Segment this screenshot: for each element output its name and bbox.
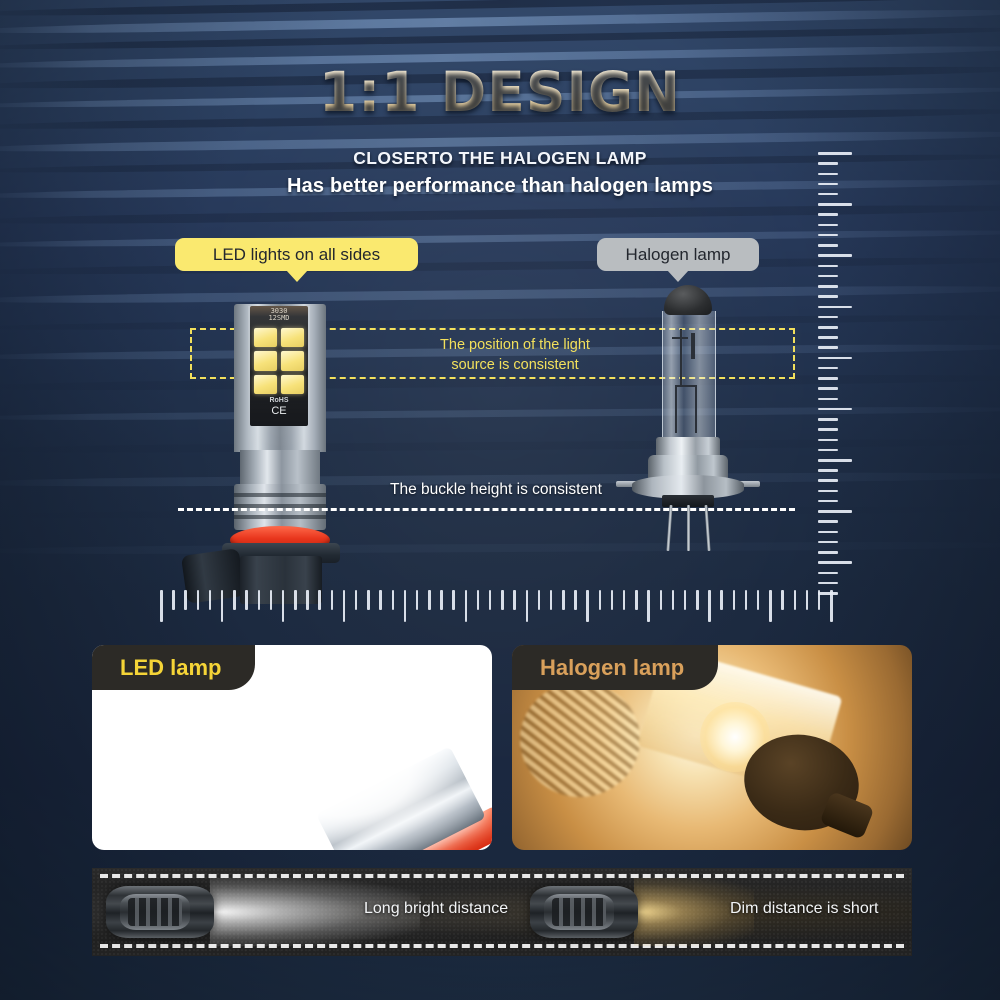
ruler-tick-minor: [818, 173, 838, 176]
ruler-tick-minor: [245, 590, 248, 610]
ruler-tick-minor: [331, 590, 334, 610]
ruler-tick-minor: [696, 590, 699, 610]
callout-led-lights: LED lights on all sides: [175, 238, 418, 271]
light-source-note: The position of the light source is cons…: [400, 335, 630, 375]
ruler-tick-minor: [818, 531, 838, 534]
ruler-tick-minor: [720, 590, 723, 610]
ruler-tick-major: [818, 306, 852, 309]
ruler-tick-major: [282, 590, 285, 622]
ruler-tick-minor: [818, 336, 838, 339]
ruler-tick-minor: [818, 428, 838, 431]
led-chip: [281, 328, 304, 347]
ruler-tick-minor: [184, 590, 187, 610]
halogen-pin: [666, 505, 672, 551]
ruler-tick-major: [708, 590, 711, 622]
ruler-tick-minor: [818, 224, 838, 227]
ruler-tick-minor: [452, 590, 455, 610]
led-bulb-illustration: 3030 12SMD RoHS CE: [188, 300, 368, 582]
ruler-tick-minor: [562, 590, 565, 610]
led-pcb-code-line-2: 12SMD: [254, 315, 304, 322]
buckle-height-note: The buckle height is consistent: [390, 481, 602, 499]
led-pcb-code: 3030 12SMD: [254, 308, 304, 322]
led-bulb-neck: [240, 450, 320, 484]
ruler-tick-minor: [684, 590, 687, 610]
ruler-tick-major: [818, 254, 852, 257]
ruler-tick-minor: [818, 162, 838, 165]
heatsink-fin: [234, 515, 326, 519]
ruler-tick-minor: [818, 193, 838, 196]
ruler-tick-major: [818, 357, 852, 360]
halogen-filament-bridge: [675, 385, 697, 387]
panel-label-halogen: Halogen lamp: [512, 645, 718, 690]
led-chip: [254, 351, 277, 370]
ruler-tick-minor: [623, 590, 626, 610]
ruler-tick-minor: [416, 590, 419, 610]
ruler-tick-minor: [818, 244, 838, 247]
ruler-tick-minor: [233, 590, 236, 610]
ruler-tick-minor: [489, 590, 492, 610]
ruler-tick-minor: [818, 572, 838, 575]
ruler-tick-minor: [477, 590, 480, 610]
ruler-tick-minor: [781, 590, 784, 610]
ruler-tick-minor: [379, 590, 382, 610]
ruler-tick-minor: [818, 285, 838, 288]
panel-halogen-photo: Halogen lamp: [512, 645, 912, 850]
car-interior: [128, 898, 182, 926]
callout-halogen-lamp: Halogen lamp: [597, 238, 759, 271]
beam-distance-comparison: Long bright distance Dim distance is sho…: [92, 868, 912, 956]
caption-dim-distance-short: Dim distance is short: [730, 900, 879, 918]
ruler-tick-major: [818, 510, 852, 513]
ruler-tick-minor: [538, 590, 541, 610]
ruler-tick-major: [586, 590, 589, 622]
halogen-filament-coil: [691, 333, 695, 359]
halogen-bulb-illustration: [628, 285, 748, 575]
ruler-tick-minor: [818, 326, 838, 329]
ruler-tick-minor: [818, 469, 838, 472]
ruler-tick-major: [818, 408, 852, 411]
ruler-tick-minor: [818, 346, 838, 349]
ruler-tick-major: [160, 590, 163, 622]
led-chip-array: [254, 328, 304, 394]
lamp-comparison-panels: LED lamp Halogen lamp: [92, 645, 912, 850]
ruler-tick-minor: [172, 590, 175, 610]
ruler-tick-minor: [757, 590, 760, 610]
panel-label-led: LED lamp: [92, 645, 255, 690]
horizontal-ruler: [160, 590, 832, 624]
ruler-tick-minor: [818, 479, 838, 482]
ce-mark: CE: [254, 405, 304, 417]
light-source-note-line-2: source is consistent: [400, 355, 630, 375]
ruler-tick-minor: [818, 551, 838, 554]
ruler-tick-minor: [270, 590, 273, 610]
halogen-glass-envelope: [662, 311, 716, 441]
ruler-tick-minor: [574, 590, 577, 610]
halogen-black-tip: [664, 285, 712, 315]
ruler-tick-minor: [745, 590, 748, 610]
ruler-tick-minor: [599, 590, 602, 610]
ruler-tick-minor: [818, 439, 838, 442]
led-chip: [281, 351, 304, 370]
ruler-tick-major: [343, 590, 346, 622]
halogen-filament-lead: [675, 385, 677, 433]
ruler-tick-minor: [806, 590, 809, 610]
ruler-tick-major: [830, 590, 833, 622]
car-interior: [552, 898, 606, 926]
heatsink-fin: [234, 493, 326, 497]
led-chip: [254, 328, 277, 347]
ruler-tick-minor: [818, 418, 838, 421]
caption-long-bright-distance: Long bright distance: [364, 900, 508, 918]
ruler-tick-minor: [818, 398, 838, 401]
ruler-tick-major: [818, 459, 852, 462]
panel-led-photo: LED lamp: [92, 645, 492, 850]
ruler-tick-minor: [818, 590, 821, 610]
ruler-tick-minor: [355, 590, 358, 610]
buckle-height-dashed-line: [178, 508, 795, 511]
ruler-tick-minor: [294, 590, 297, 610]
ruler-tick-major: [818, 561, 852, 564]
ruler-tick-minor: [209, 590, 212, 610]
ruler-tick-minor: [392, 590, 395, 610]
ruler-tick-major: [404, 590, 407, 622]
ruler-tick-minor: [794, 590, 797, 610]
ruler-tick-major: [221, 590, 224, 622]
ruler-tick-minor: [818, 449, 838, 452]
ruler-tick-minor: [818, 541, 838, 544]
vertical-ruler: [818, 152, 860, 592]
car-led: [106, 886, 214, 938]
ruler-tick-minor: [197, 590, 200, 610]
ruler-tick-major: [647, 590, 650, 622]
ruler-tick-minor: [672, 590, 675, 610]
ruler-tick-minor: [818, 377, 838, 380]
led-bulb-heatsink: [234, 484, 326, 530]
ruler-tick-minor: [818, 520, 838, 523]
ruler-tick-minor: [818, 582, 838, 585]
halogen-photo-coil: [520, 682, 640, 797]
ruler-tick-major: [465, 590, 468, 622]
ruler-tick-major: [818, 203, 852, 206]
ruler-tick-major: [769, 590, 772, 622]
led-chip: [254, 375, 277, 394]
car-halogen: [530, 886, 638, 938]
ruler-tick-minor: [818, 387, 838, 390]
ruler-tick-minor: [318, 590, 321, 610]
ruler-tick-minor: [428, 590, 431, 610]
led-chip: [281, 375, 304, 394]
infographic-page: 1:1 DESIGN CLOSERTO THE HALOGEN LAMP Has…: [0, 0, 1000, 1000]
halogen-pin: [704, 505, 710, 551]
ruler-tick-minor: [818, 295, 838, 298]
ruler-tick-minor: [818, 265, 838, 268]
halogen-filament-cross: [672, 337, 688, 339]
ruler-tick-minor: [818, 500, 838, 503]
ruler-tick-minor: [818, 490, 838, 493]
ruler-tick-minor: [635, 590, 638, 610]
ruler-tick-minor: [818, 234, 838, 237]
ruler-tick-minor: [258, 590, 261, 610]
ruler-tick-minor: [818, 316, 838, 319]
ruler-tick-minor: [501, 590, 504, 610]
ruler-tick-minor: [306, 590, 309, 610]
ruler-tick-minor: [818, 213, 838, 216]
ruler-tick-minor: [818, 275, 838, 278]
halogen-pin: [687, 505, 690, 551]
light-source-note-line-1: The position of the light: [400, 335, 630, 355]
ruler-tick-minor: [367, 590, 370, 610]
ruler-tick-minor: [440, 590, 443, 610]
ruler-tick-minor: [733, 590, 736, 610]
ruler-tick-minor: [818, 183, 838, 186]
halogen-filament-lead: [695, 385, 697, 433]
ruler-tick-major: [526, 590, 529, 622]
ruler-tick-major: [818, 152, 852, 155]
led-photo-hotspot: [272, 718, 492, 850]
ruler-tick-minor: [611, 590, 614, 610]
ruler-tick-minor: [660, 590, 663, 610]
ruler-tick-minor: [513, 590, 516, 610]
ruler-tick-minor: [818, 367, 838, 370]
ruler-tick-minor: [550, 590, 553, 610]
page-title: 1:1 DESIGN: [0, 60, 1000, 124]
rohs-mark: RoHS: [254, 397, 304, 404]
